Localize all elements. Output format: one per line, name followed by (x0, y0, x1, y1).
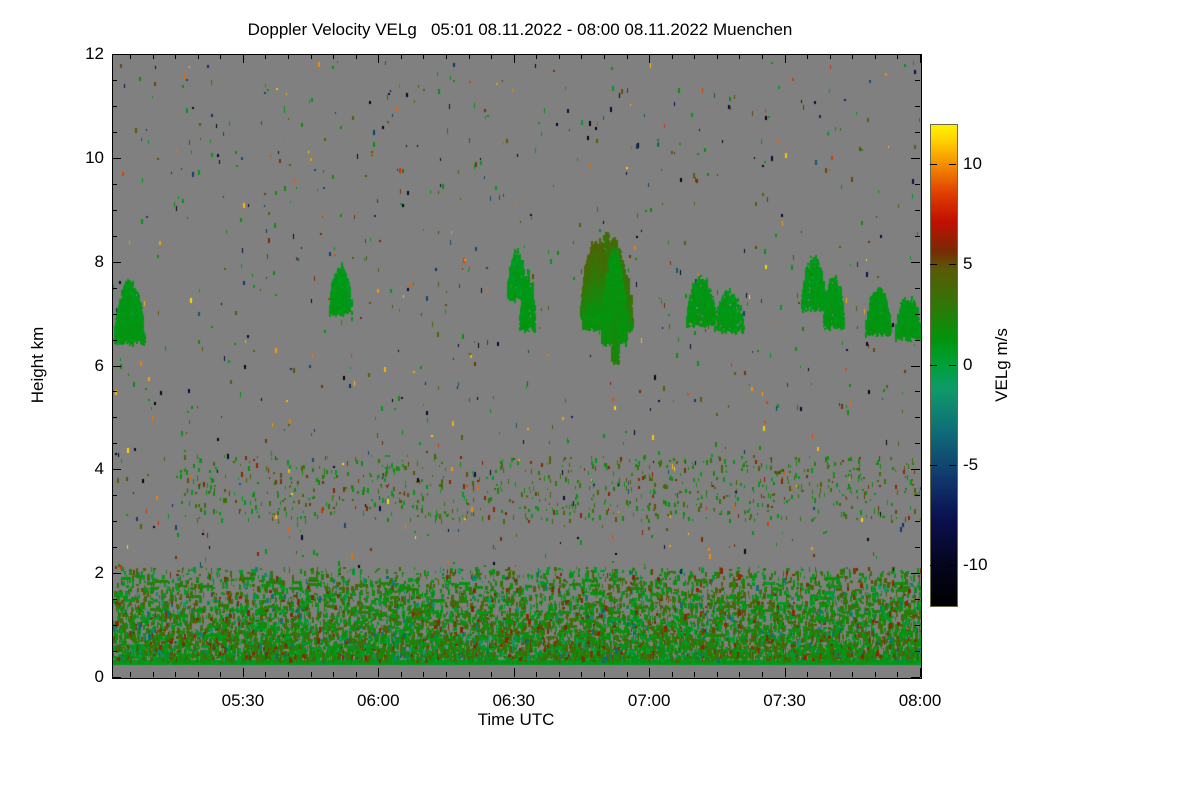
y-tick-minor (915, 391, 920, 392)
x-tick-minor (559, 54, 560, 59)
x-tick-minor (627, 54, 628, 59)
x-tick-major (649, 54, 650, 63)
y-tick-major (911, 366, 920, 367)
y-tick-minor (915, 184, 920, 185)
x-tick-label-1: 06:00 (357, 691, 400, 711)
y-tick-minor (915, 521, 920, 522)
x-tick-major (378, 668, 379, 677)
colorbar-tick (930, 565, 937, 566)
y-tick-minor (112, 651, 117, 652)
x-tick-major (514, 668, 515, 677)
y-tick-minor (112, 80, 117, 81)
x-tick-label-4: 07:30 (763, 691, 806, 711)
x-tick-minor (356, 54, 357, 59)
y-tick-minor (112, 521, 117, 522)
y-tick-minor (915, 314, 920, 315)
y-tick-minor (112, 625, 117, 626)
doppler-velocity-heatmap (113, 55, 921, 678)
x-tick-minor (830, 672, 831, 677)
x-tick-minor (153, 672, 154, 677)
x-tick-major (649, 668, 650, 677)
x-tick-minor (830, 54, 831, 59)
y-tick-minor (112, 547, 117, 548)
x-tick-minor (446, 54, 447, 59)
y-tick-major (112, 366, 121, 367)
colorbar-tick-label-2: 0 (963, 355, 972, 375)
x-tick-minor (288, 54, 289, 59)
x-tick-major (243, 54, 244, 63)
y-tick-label-6: 12 (85, 44, 104, 64)
x-tick-minor (333, 672, 334, 677)
y-tick-minor (915, 417, 920, 418)
colorbar-tick (949, 164, 956, 165)
x-tick-minor (559, 672, 560, 677)
x-tick-minor (762, 54, 763, 59)
colorbar-tick (949, 565, 956, 566)
x-tick-minor (536, 672, 537, 677)
colorbar-tick (930, 264, 937, 265)
y-tick-minor (112, 391, 117, 392)
x-tick-minor (401, 54, 402, 59)
y-tick-minor (112, 184, 117, 185)
x-tick-minor (265, 54, 266, 59)
x-tick-minor (875, 672, 876, 677)
x-tick-minor (694, 672, 695, 677)
x-tick-minor (581, 54, 582, 59)
y-tick-minor (915, 80, 920, 81)
x-tick-minor (469, 54, 470, 59)
x-tick-label-3: 07:00 (628, 691, 671, 711)
colorbar-tick (949, 465, 956, 466)
colorbar-tick (930, 465, 937, 466)
y-tick-minor (915, 340, 920, 341)
y-tick-minor (112, 132, 117, 133)
y-tick-major (112, 469, 121, 470)
y-tick-major (911, 54, 920, 55)
x-tick-minor (852, 54, 853, 59)
x-tick-minor (130, 672, 131, 677)
y-tick-major (112, 262, 121, 263)
x-tick-minor (446, 672, 447, 677)
y-tick-minor (112, 106, 117, 107)
colorbar-title: VELg m/s (992, 328, 1012, 402)
x-tick-minor (604, 672, 605, 677)
x-tick-minor (897, 54, 898, 59)
y-tick-minor (915, 651, 920, 652)
y-tick-minor (915, 547, 920, 548)
x-tick-minor (311, 672, 312, 677)
x-tick-minor (423, 54, 424, 59)
x-tick-minor (491, 672, 492, 677)
y-tick-major (911, 573, 920, 574)
y-tick-minor (112, 340, 117, 341)
colorbar-tick (930, 164, 937, 165)
x-tick-minor (581, 672, 582, 677)
x-tick-label-2: 06:30 (492, 691, 535, 711)
x-tick-label-0: 05:30 (222, 691, 265, 711)
y-tick-minor (112, 236, 117, 237)
x-tick-minor (604, 54, 605, 59)
x-tick-minor (875, 54, 876, 59)
y-tick-minor (112, 417, 117, 418)
y-tick-minor (915, 106, 920, 107)
x-tick-minor (807, 54, 808, 59)
y-tick-label-0: 0 (95, 667, 104, 687)
x-tick-minor (739, 672, 740, 677)
x-tick-minor (265, 672, 266, 677)
x-tick-minor (694, 54, 695, 59)
x-tick-label-5: 08:00 (899, 691, 942, 711)
x-tick-major (785, 54, 786, 63)
y-tick-minor (112, 314, 117, 315)
plot-area[interactable] (112, 54, 922, 679)
x-tick-minor (333, 54, 334, 59)
x-tick-minor (897, 672, 898, 677)
y-tick-major (911, 158, 920, 159)
y-tick-major (112, 677, 121, 678)
x-tick-major (920, 668, 921, 677)
y-tick-major (112, 158, 121, 159)
y-tick-minor (112, 210, 117, 211)
y-tick-minor (915, 443, 920, 444)
figure-canvas: Doppler Velocity VELg 05:01 08.11.2022 -… (0, 0, 1200, 800)
y-tick-major (911, 677, 920, 678)
x-tick-minor (401, 672, 402, 677)
y-axis-title: Height km (28, 327, 48, 404)
x-tick-minor (852, 672, 853, 677)
y-tick-minor (112, 599, 117, 600)
x-tick-minor (491, 54, 492, 59)
x-tick-major (514, 54, 515, 63)
y-tick-minor (915, 288, 920, 289)
colorbar-tick-label-1: -5 (963, 455, 978, 475)
y-tick-minor (915, 210, 920, 211)
y-tick-minor (915, 599, 920, 600)
y-tick-label-4: 8 (95, 252, 104, 272)
colorbar-tick-label-0: -10 (963, 555, 988, 575)
y-tick-label-2: 4 (95, 459, 104, 479)
x-tick-minor (153, 54, 154, 59)
x-tick-major (378, 54, 379, 63)
x-tick-minor (536, 54, 537, 59)
x-tick-minor (717, 54, 718, 59)
x-tick-minor (220, 672, 221, 677)
colorbar-tick-label-3: 5 (963, 254, 972, 274)
y-tick-label-5: 10 (85, 148, 104, 168)
y-tick-minor (915, 495, 920, 496)
y-tick-major (112, 573, 121, 574)
x-tick-minor (288, 672, 289, 677)
x-tick-major (785, 668, 786, 677)
x-tick-minor (130, 54, 131, 59)
x-tick-minor (672, 54, 673, 59)
y-tick-minor (112, 495, 117, 496)
x-axis-title: Time UTC (478, 710, 555, 730)
x-tick-minor (175, 54, 176, 59)
x-tick-minor (175, 672, 176, 677)
x-tick-minor (220, 54, 221, 59)
x-tick-minor (469, 672, 470, 677)
x-tick-minor (198, 54, 199, 59)
colorbar-tick (949, 365, 956, 366)
colorbar-tick-label-4: 10 (963, 154, 982, 174)
y-tick-label-3: 6 (95, 356, 104, 376)
figure-title: Doppler Velocity VELg 05:01 08.11.2022 -… (0, 20, 1040, 40)
y-tick-minor (915, 236, 920, 237)
x-tick-minor (717, 672, 718, 677)
x-tick-major (920, 54, 921, 63)
y-tick-label-1: 2 (95, 563, 104, 583)
y-tick-major (911, 469, 920, 470)
x-tick-minor (311, 54, 312, 59)
y-tick-minor (112, 443, 117, 444)
y-tick-minor (915, 625, 920, 626)
x-tick-minor (807, 672, 808, 677)
x-tick-minor (672, 672, 673, 677)
y-tick-major (911, 262, 920, 263)
colorbar-tick (949, 264, 956, 265)
x-tick-minor (198, 672, 199, 677)
x-tick-minor (762, 672, 763, 677)
x-tick-minor (356, 672, 357, 677)
y-tick-minor (915, 132, 920, 133)
y-tick-minor (112, 288, 117, 289)
x-tick-minor (739, 54, 740, 59)
colorbar-tick (930, 365, 937, 366)
x-tick-major (243, 668, 244, 677)
x-tick-minor (423, 672, 424, 677)
y-tick-major (112, 54, 121, 55)
x-tick-minor (627, 672, 628, 677)
